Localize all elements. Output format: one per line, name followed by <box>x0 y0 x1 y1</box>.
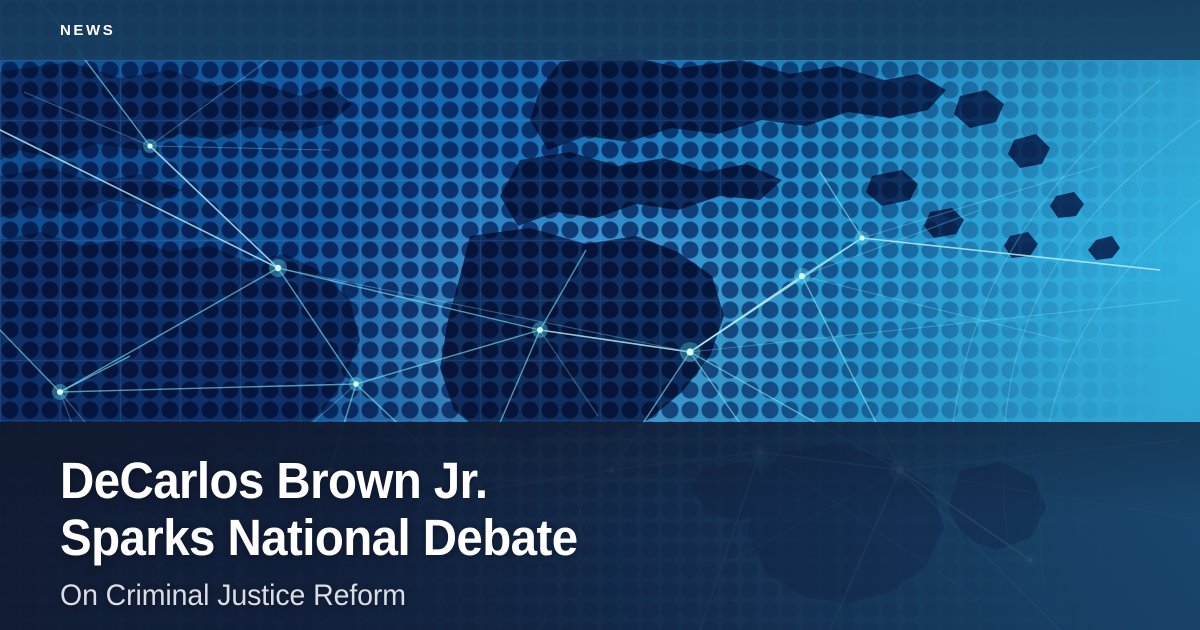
page-title: DeCarlos Brown Jr. Sparks National Debat… <box>60 452 841 566</box>
top-bar: NEWS <box>0 0 1200 60</box>
news-banner: NEWS DeCarlos Brown Jr. Sparks National … <box>0 0 1200 630</box>
page-subtitle: On Criminal Justice Reform <box>60 579 858 613</box>
headline-block: DeCarlos Brown Jr. Sparks National Debat… <box>60 452 900 613</box>
news-kicker-label: NEWS <box>60 23 115 38</box>
